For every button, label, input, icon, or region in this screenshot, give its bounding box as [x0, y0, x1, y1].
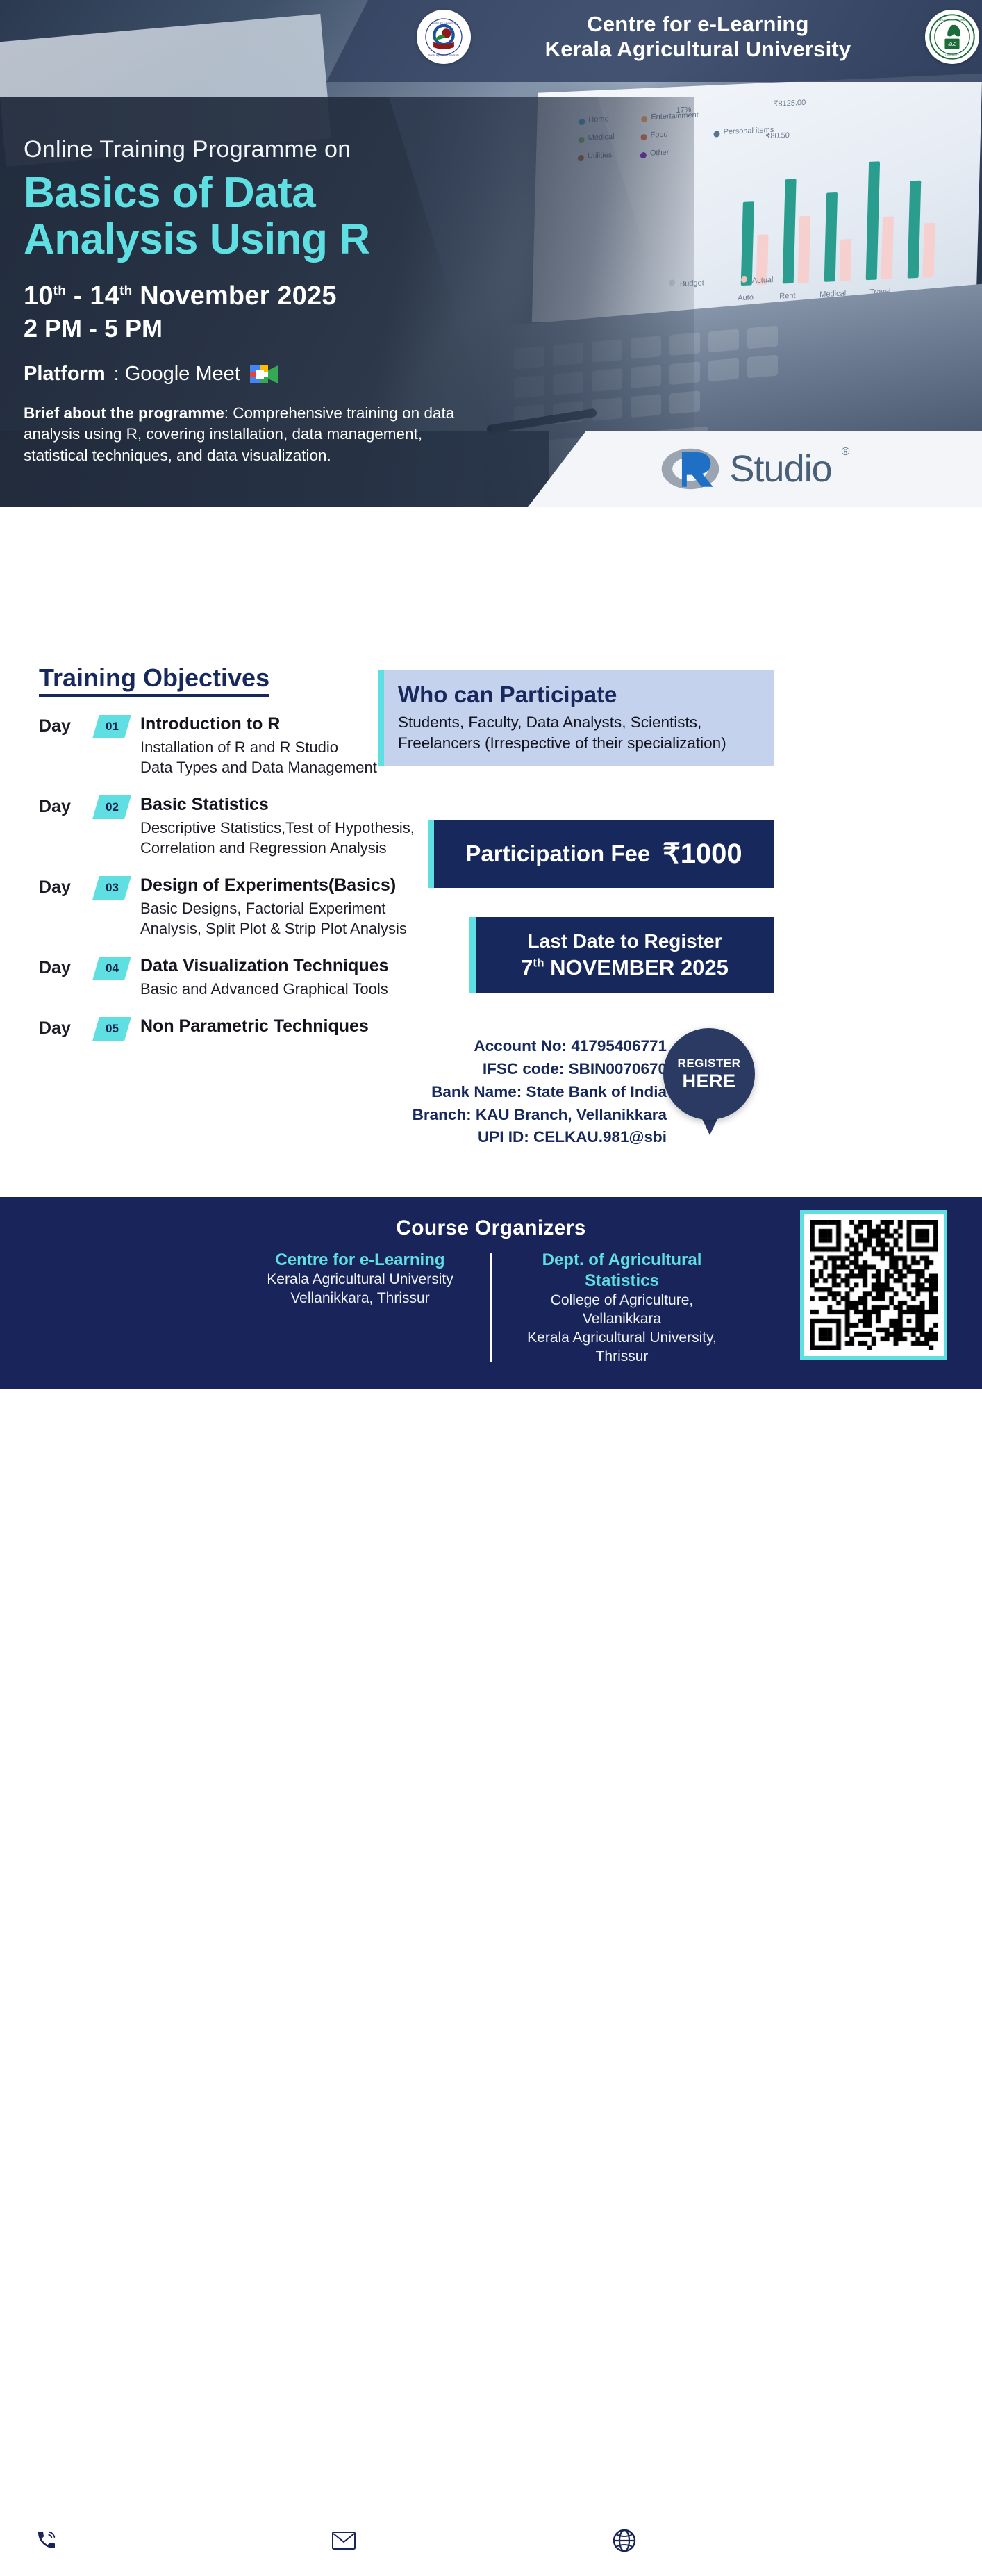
svg-text:കാ: കാ	[948, 40, 957, 47]
last-date-day: 7	[521, 955, 533, 980]
register-here-badge[interactable]: REGISTER HERE	[663, 1028, 755, 1120]
hero-title-line2: Analysis Using R	[24, 217, 510, 263]
rstudio-r-icon	[660, 439, 720, 499]
participate-heading: Who can Participate	[398, 682, 761, 708]
phone-numbers: 0487 2438565 +91 9495943875 +91 85478372…	[76, 2512, 176, 2568]
registration-qr-code[interactable]	[800, 1210, 947, 1360]
bank-branch: Branch: KAU Branch, Vellanikkara	[403, 1104, 667, 1127]
day-title: Design of Experiments(Basics)	[140, 876, 449, 895]
day-word-label: Day	[39, 876, 93, 898]
fee-amount: ₹1000	[663, 838, 742, 870]
bank-account-no: Account No: 41795406771	[403, 1035, 667, 1058]
date-end-suffix: th	[119, 283, 132, 298]
date-end-day: 14	[90, 281, 119, 311]
date-dash: -	[74, 281, 83, 311]
email-address: celkau@gmail.com	[374, 2531, 531, 2551]
objectives-day-row: Day04Data Visualization TechniquesBasic …	[39, 957, 449, 999]
contact-phone[interactable]: 0487 2438565 +91 9495943875 +91 85478372…	[28, 2512, 176, 2568]
day-subtitle: Descriptive Statistics,Test of Hypothesi…	[140, 818, 449, 859]
day-number-badge: 02	[92, 795, 131, 819]
hero-title: Basics of Data Analysis Using R	[24, 170, 510, 263]
objectives-day-row: Day03Design of Experiments(Basics)Basic …	[39, 876, 449, 939]
envelope-icon	[325, 2522, 363, 2559]
programme-brief: Brief about the programme: Comprehensive…	[24, 403, 482, 466]
kau-emblem-logo-icon: കാ KERALA AGRICULTURAL UNIVERSITY	[925, 10, 979, 64]
who-can-participate-box: Who can Participate Students, Faculty, D…	[378, 670, 774, 766]
participation-fee-box: Participation Fee ₹1000	[428, 820, 774, 888]
bank-upi-id: UPI ID: CELKAU.981@sbi	[403, 1126, 667, 1149]
hero-copy: Online Training Programme on Basics of D…	[24, 136, 510, 466]
svg-text:Kerala Agricultural University: Kerala Agricultural University	[428, 53, 459, 56]
date-month-year: November 2025	[140, 281, 337, 311]
organizer-cel-line2: Vellanikkara, Thrissur	[257, 1289, 464, 1308]
contact-website[interactable]: www.celkau.in	[606, 2522, 773, 2559]
day-number-badge: 01	[92, 715, 131, 738]
header-bar: Centre for e-Learning Kerala Agricultura…	[417, 10, 979, 64]
bank-name: Bank Name: State Bank of India	[403, 1081, 667, 1104]
programme-dates: 10th - 14th November 2025	[24, 281, 510, 311]
day-title: Non Parametric Techniques	[140, 1017, 449, 1037]
organizer-cel-line1: Kerala Agricultural University	[257, 1271, 464, 1289]
date-start-suffix: th	[53, 283, 66, 298]
organizer-stats-dept: Dept. of Agricultural Statistics College…	[508, 1250, 737, 1367]
poster-root: 17% ₹8125.00 ₹80.50 Home Entertainment M…	[0, 0, 982, 1389]
header-title-line1: Centre for e-Learning	[483, 12, 913, 37]
bank-details: Account No: 41795406771 IFSC code: SBIN0…	[403, 1035, 667, 1149]
hero-kicker: Online Training Programme on	[24, 136, 510, 163]
hero-section: 17% ₹8125.00 ₹80.50 Home Entertainment M…	[0, 0, 982, 639]
platform-label: Platform	[24, 363, 106, 386]
participate-text: Students, Faculty, Data Analysts, Scient…	[398, 712, 761, 753]
day-subtitle: Basic Designs, Factorial Experiment Anal…	[140, 898, 449, 939]
header-title-line2: Kerala Agricultural University	[483, 37, 913, 62]
day-word-label: Day	[39, 1017, 93, 1039]
register-badge-line1: REGISTER	[678, 1057, 741, 1071]
fee-label: Participation Fee	[465, 841, 650, 867]
day-title: Basic Statistics	[140, 795, 449, 815]
contact-email[interactable]: celkau@gmail.com	[325, 2522, 531, 2559]
hero-white-strip	[0, 507, 982, 639]
day-word-label: Day	[39, 795, 93, 817]
last-date-box: Last Date to Register 7th NOVEMBER 2025	[469, 917, 774, 993]
register-badge-line2: HERE	[682, 1071, 735, 1092]
organizer-stats-name: Dept. of Agricultural Statistics	[519, 1250, 726, 1291]
google-meet-icon	[249, 363, 281, 386]
rstudio-wordmark: Studio	[730, 447, 832, 490]
last-date-month-year: NOVEMBER 2025	[544, 955, 729, 980]
header-title: Centre for e-Learning Kerala Agricultura…	[483, 12, 913, 62]
platform-line: Platform: Google Meet	[24, 363, 510, 386]
bank-ifsc: IFSC code: SBIN0070670	[403, 1058, 667, 1081]
organizer-stats-line2: Kerala Agricultural University, Thrissur	[519, 1329, 726, 1367]
day-title: Data Visualization Techniques	[140, 957, 449, 976]
cel-kau-logo-icon: Centre for e-Learning Kerala Agricultura…	[417, 10, 471, 64]
day-number-badge: 05	[92, 1017, 131, 1041]
brief-label: Brief about the programme	[24, 404, 224, 422]
organizer-cel: Centre for e-Learning Kerala Agricultura…	[246, 1250, 475, 1367]
platform-value: : Google Meet	[114, 363, 240, 386]
globe-icon	[606, 2522, 643, 2559]
programme-time: 2 PM - 5 PM	[24, 314, 510, 343]
fee-currency: ₹	[663, 839, 680, 869]
rstudio-logo-band: Studio ®	[528, 431, 982, 507]
svg-text:UNIVERSITY: UNIVERSITY	[945, 54, 960, 57]
day-word-label: Day	[39, 715, 93, 736]
organizer-cel-name: Centre for e-Learning	[257, 1250, 464, 1271]
svg-text:Centre for e-Learning: Centre for e-Learning	[431, 22, 456, 24]
last-date-label: Last Date to Register	[527, 930, 722, 952]
day-content: Data Visualization TechniquesBasic and A…	[140, 957, 449, 999]
day-word-label: Day	[39, 957, 93, 978]
day-subtitle: Basic and Advanced Graphical Tools	[140, 979, 449, 999]
day-content: Non Parametric Techniques	[140, 1017, 449, 1037]
objectives-day-row: Day02Basic StatisticsDescriptive Statist…	[39, 795, 449, 858]
contact-row: 0487 2438565 +91 9495943875 +91 85478372…	[0, 2500, 982, 2576]
day-number-badge: 03	[92, 876, 131, 900]
hero-title-line1: Basics of Data	[24, 170, 510, 217]
date-start-day: 10	[24, 281, 53, 311]
objectives-heading: Training Objectives	[39, 663, 269, 697]
phone-icon	[28, 2521, 65, 2559]
day-content: Basic StatisticsDescriptive Statistics,T…	[140, 795, 449, 858]
last-date-day-suffix: th	[533, 957, 544, 970]
website-url: www.celkau.in	[654, 2531, 773, 2551]
organizer-stats-line1: College of Agriculture, Vellanikkara	[519, 1291, 726, 1329]
fee-value: 1000	[681, 839, 742, 869]
svg-text:KERALA AGRICULTURAL: KERALA AGRICULTURAL	[939, 19, 966, 22]
day-number-badge: 04	[92, 957, 131, 980]
rstudio-registered-mark: ®	[842, 446, 850, 459]
last-date-value: 7th NOVEMBER 2025	[521, 955, 729, 980]
day-content: Design of Experiments(Basics)Basic Desig…	[140, 876, 449, 939]
organizers-divider	[490, 1253, 492, 1362]
objectives-day-row: Day05Non Parametric Techniques	[39, 1017, 449, 1041]
